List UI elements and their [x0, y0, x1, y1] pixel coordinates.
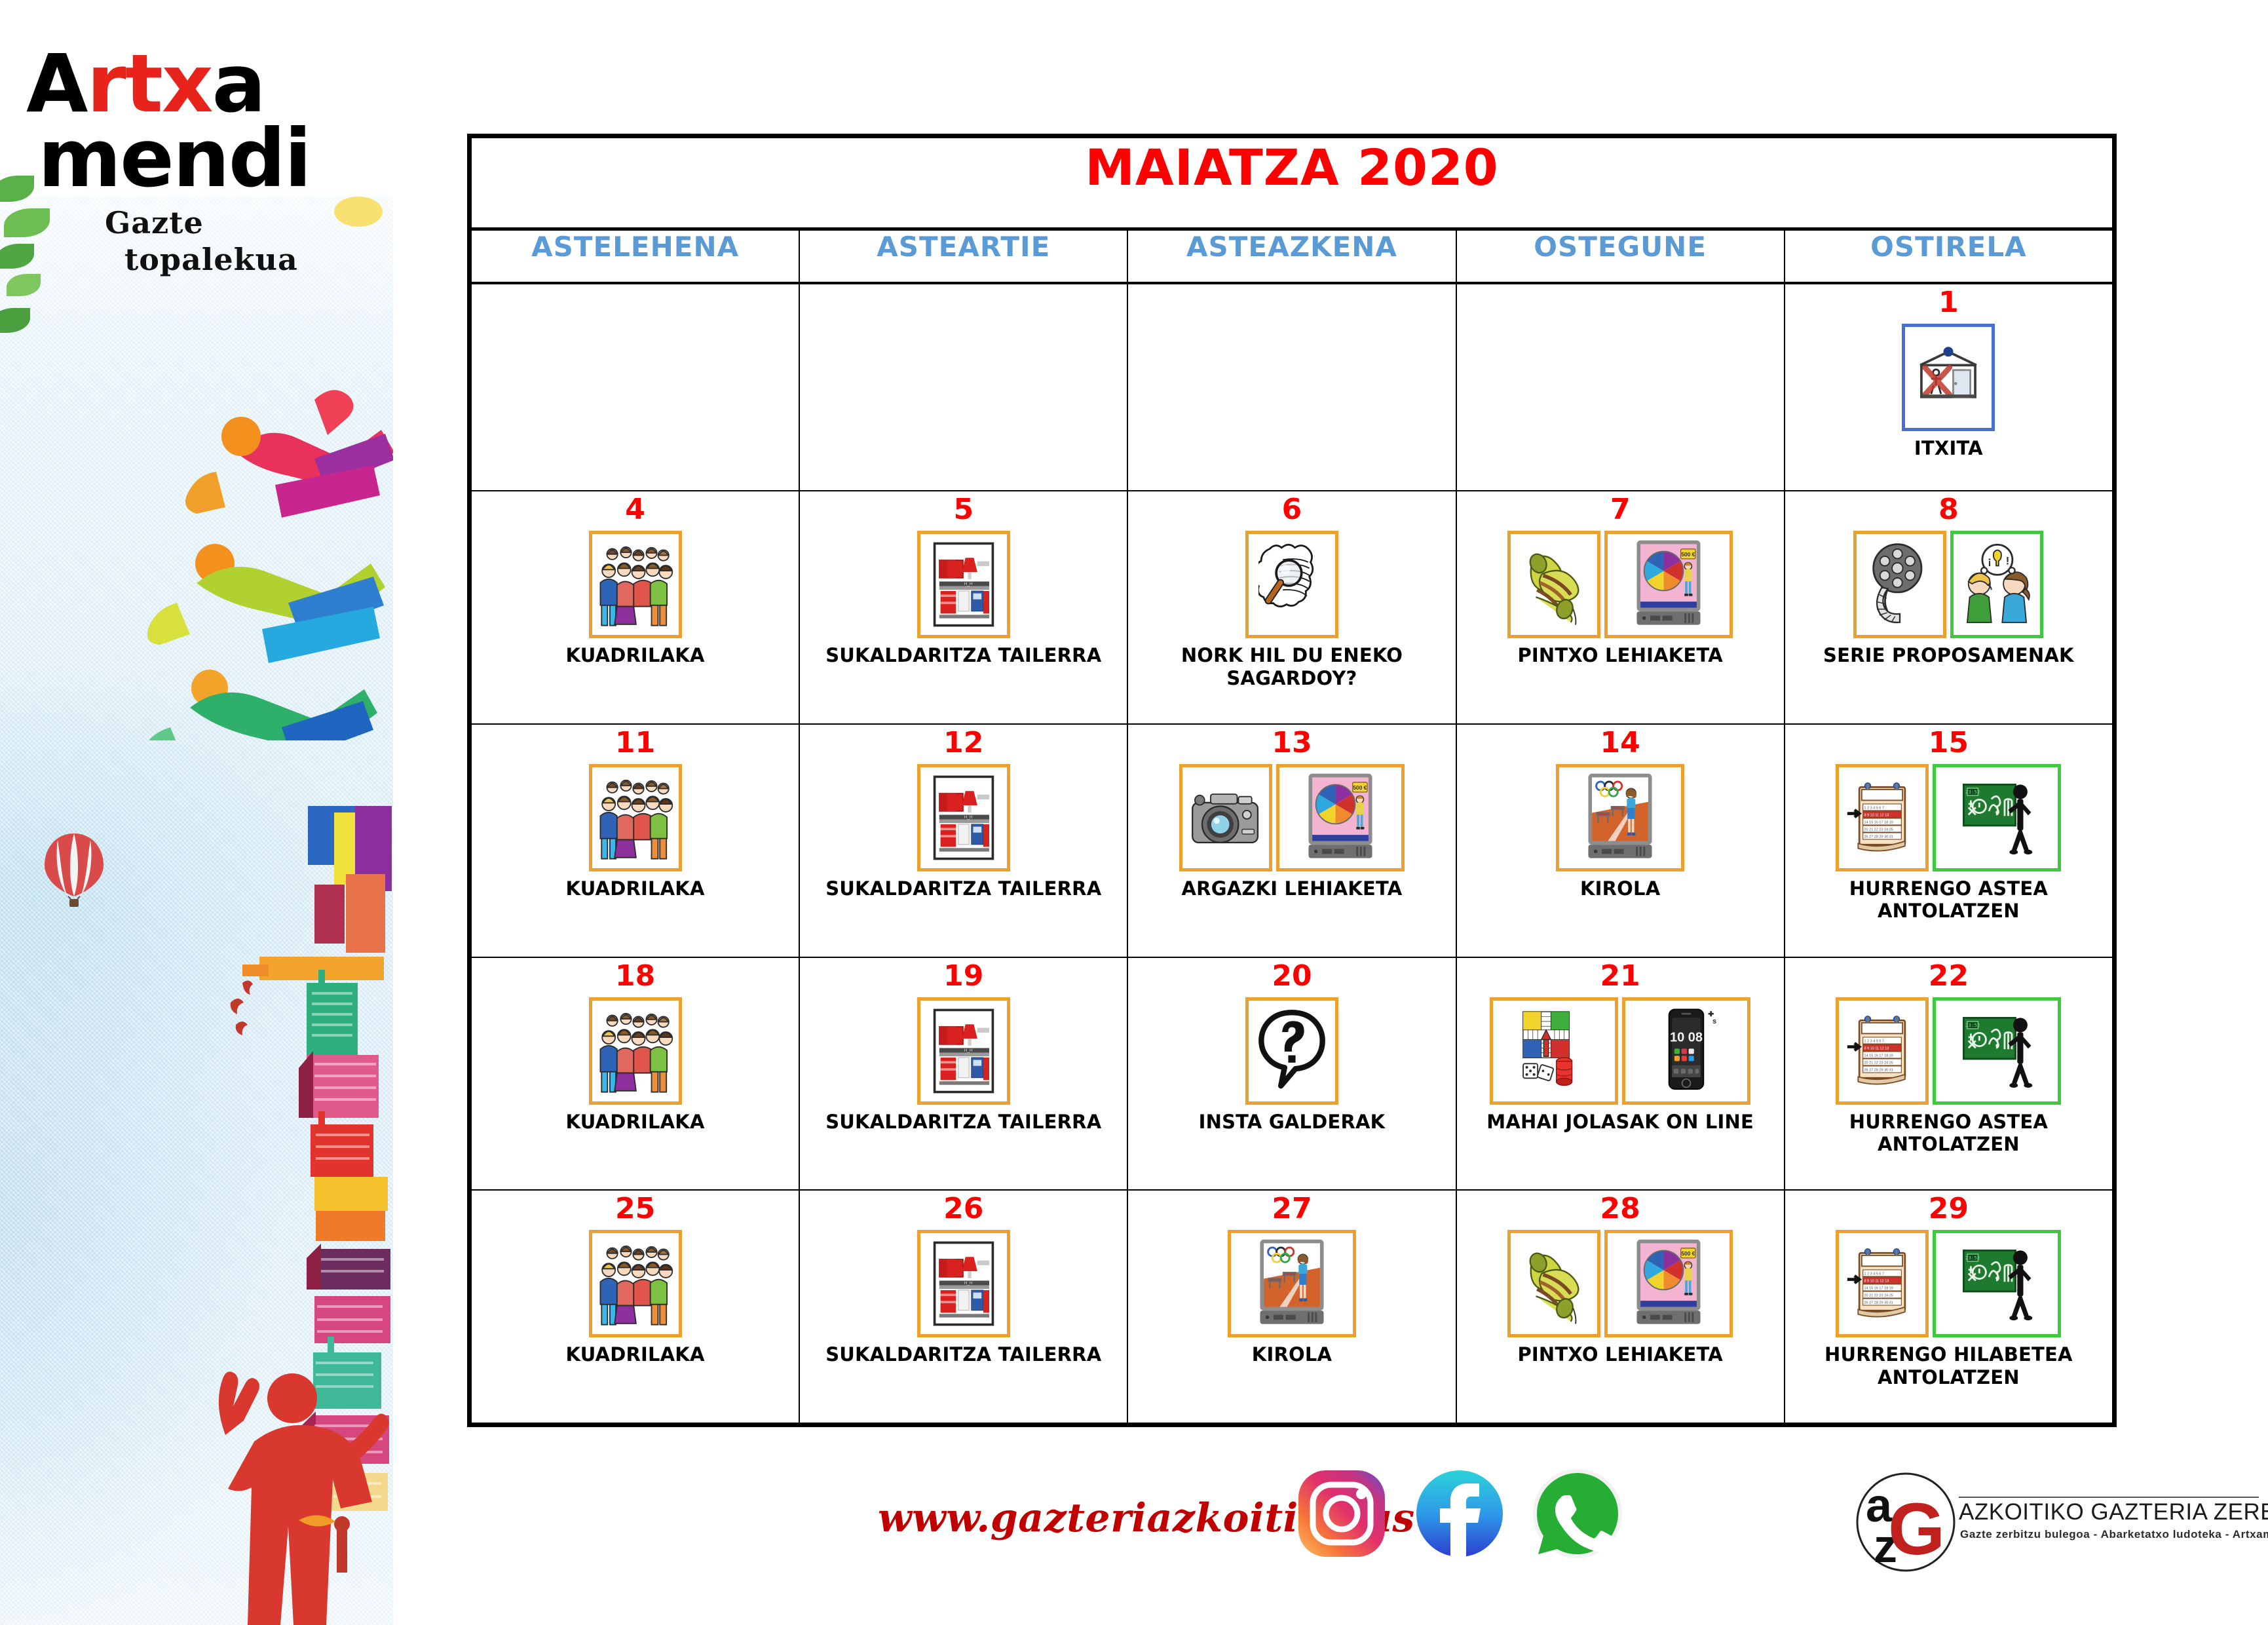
calendar-grid: MAIATZA 2020 ASTELEHENA ASTEARTIE ASTEAZ…: [470, 137, 2113, 1424]
pictogram-group: ¡ !: [1788, 531, 2109, 638]
day-number: 14: [1460, 729, 1781, 760]
svg-text:H_H: H_H: [964, 582, 973, 586]
calendar-day-cell-empty: [1127, 283, 1456, 491]
planning-board-icon: 23:52: [1933, 997, 2061, 1105]
pictogram-group: [474, 764, 796, 871]
calendar-week-row: 25 K: [471, 1190, 2113, 1423]
weekday-label: ASTEARTIE: [877, 231, 1050, 263]
day-number: 29: [1788, 1195, 2109, 1226]
weekday-header-row: ASTELEHENA ASTEARTIE ASTEAZKENA OSTEGUNE…: [471, 229, 2113, 282]
monthly-calendar-table: MAIATZA 2020 ASTELEHENA ASTEARTIE ASTEAZ…: [467, 134, 2117, 1427]
weekday-header-thursday: OSTEGUNE: [1456, 229, 1785, 282]
pictogram-group: 500 €: [1460, 531, 1781, 638]
question-bubble-icon: [1245, 997, 1338, 1105]
people-silhouettes: [118, 373, 393, 740]
azg-monogram-icon: a z G: [1854, 1470, 1957, 1574]
svg-text:26 27 28 29 30 31: 26 27 28 29 30 31: [1864, 1301, 1893, 1305]
kitchen-icon: H_H: [917, 764, 1010, 871]
board-game-icon: [1490, 997, 1618, 1105]
event-label: ARGAZKI LEHIAKETA: [1131, 877, 1452, 900]
calendar-day-cell-empty: [471, 283, 799, 491]
day-number: 27: [1131, 1195, 1452, 1226]
azkoitia-youth-service-logo: a z G AZKOITIKO GAZTERIA ZERBITZUA Gazte…: [1854, 1466, 2260, 1584]
day-number: 18: [474, 962, 796, 993]
calendar-day-cell-1[interactable]: 1 ITXITA: [1785, 283, 2113, 491]
planning-board-icon: 23:52: [1933, 1230, 2061, 1337]
event-label: INSTA GALDERAK: [1131, 1111, 1452, 1133]
day-number: 26: [803, 1195, 1124, 1226]
day-number: 6: [1131, 495, 1452, 527]
svg-text:8 9 10 11 12 13: 8 9 10 11 12 13: [1864, 1046, 1889, 1050]
svg-text:s: s: [1712, 1018, 1716, 1025]
calendar-day-cell-6[interactable]: 6 NORK HIL DU ENEKO SAGARDOY?: [1127, 491, 1456, 724]
day-number: 19: [803, 962, 1124, 993]
calendar-day-cell-27[interactable]: 27: [1127, 1190, 1456, 1423]
weekday-header-wednesday: ASTEAZKENA: [1127, 229, 1456, 282]
calendar-week-row: 11 K: [471, 724, 2113, 957]
calendar-day-cell-7[interactable]: 7: [1456, 491, 1785, 724]
tv-sports-icon: [1556, 764, 1684, 871]
logo-line-2: mendi: [38, 120, 373, 199]
pictogram-group: 500 €: [1460, 1230, 1781, 1337]
calendar-icon: 1 2 3 4 5 6 7 8 9 10 11 12 13 14 15 16 1…: [1836, 997, 1929, 1105]
svg-text:23:52: 23:52: [1965, 789, 1980, 795]
svg-text:H_H: H_H: [964, 815, 973, 820]
pictogram-group: H_H: [803, 764, 1124, 871]
day-number: 11: [474, 729, 796, 760]
whatsapp-icon[interactable]: [1532, 1468, 1623, 1559]
pictogram-group: [1460, 764, 1781, 871]
calendar-icon: 1 2 3 4 5 6 7 8 9 10 11 12 13 14 15 16 1…: [1836, 764, 1929, 871]
calendar-day-cell-5[interactable]: 5 H_H SUKALDARITZA TAILERR: [799, 491, 1127, 724]
event-label: HURRENGO HILABETEA ANTOLATZEN: [1788, 1343, 2109, 1388]
tv-sports-icon: [1228, 1230, 1356, 1337]
calendar-icon: 1 2 3 4 5 6 7 8 9 10 11 12 13 14 15 16 1…: [1836, 1230, 1929, 1337]
calendar-day-cell-4[interactable]: 4 KU: [471, 491, 799, 724]
pictogram-group: 1 2 3 4 5 6 7 8 9 10 11 12 13 14 15 16 1…: [1788, 1230, 2109, 1337]
kitchen-icon: H_H: [917, 997, 1010, 1105]
film-reel-icon: [1853, 531, 1946, 638]
pintxo-icon: [1507, 531, 1600, 638]
facebook-icon[interactable]: [1414, 1468, 1505, 1559]
footer: www.gazteriazkoitia.eus: [393, 1455, 2268, 1625]
org-tagline: Gazte zerbitzu bulegoa - Abarketatxo lud…: [1960, 1528, 2268, 1541]
calendar-day-cell-14[interactable]: 14: [1456, 724, 1785, 957]
svg-text:23:52: 23:52: [1965, 1022, 1980, 1028]
camera-icon: [1179, 764, 1272, 871]
decorative-sidebar: Artxa mendi Gazte topalekua: [0, 0, 393, 1625]
weekday-label: ASTEAZKENA: [1186, 231, 1397, 263]
event-label: KUADRILAKA: [474, 877, 796, 900]
event-label: PINTXO LEHIAKETA: [1460, 644, 1781, 666]
logo-line-1: Artxa: [26, 46, 373, 123]
calendar-day-cell-empty: [1456, 283, 1785, 491]
calendar-day-cell-21[interactable]: 21: [1456, 957, 1785, 1191]
day-number: 12: [803, 729, 1124, 760]
day-number: 1: [1788, 288, 2109, 320]
pictogram-group: 1 2 3 4 5 6 7 8 9 10 11 12 13 14 15 16 1…: [1788, 764, 2109, 871]
org-name: AZKOITIKO GAZTERIA ZERBITZUA: [1959, 1499, 2268, 1525]
calendar-day-cell-25[interactable]: 25 K: [471, 1190, 799, 1423]
day-number: 13: [1131, 729, 1452, 760]
svg-text:26 27 28 29 30 31: 26 27 28 29 30 31: [1864, 1068, 1893, 1072]
event-label: NORK HIL DU ENEKO SAGARDOY?: [1131, 644, 1452, 689]
artxamendi-logo: Artxa mendi Gazte topalekua: [26, 46, 373, 277]
pictogram-group: 1 2 3 4 5 6 7 8 9 10 11 12 13 14 15 16 1…: [1788, 997, 2109, 1105]
svg-text:20 21 22 23 24 25: 20 21 22 23 24 25: [1864, 1061, 1893, 1065]
event-label: SUKALDARITZA TAILERRA: [803, 1343, 1124, 1366]
kitchen-icon: H_H: [917, 531, 1010, 638]
closed-building-icon: [1902, 324, 1995, 431]
svg-text:10 08: 10 08: [1670, 1030, 1703, 1044]
calendar-week-row: 4 KU: [471, 491, 2113, 724]
day-number: 20: [1131, 962, 1452, 993]
svg-text:500 €: 500 €: [1353, 784, 1367, 791]
weekday-header-friday: OSTIRELA: [1785, 229, 2113, 282]
pictogram-group: [474, 531, 796, 638]
weekday-header-tuesday: ASTEARTIE: [799, 229, 1127, 282]
event-label: KUADRILAKA: [474, 1111, 796, 1133]
event-label: KUADRILAKA: [474, 1343, 796, 1366]
page-title: MAIATZA 2020: [1085, 138, 1498, 197]
azg-divider-rule: [1959, 1497, 2259, 1498]
weekday-label: OSTIRELA: [1870, 231, 2027, 263]
day-number: 7: [1460, 495, 1781, 527]
pictogram-group: [474, 1230, 796, 1337]
calendar-week-row: 1 ITXITA: [471, 283, 2113, 491]
calendar-day-cell-26[interactable]: 26 H_H SUKALDARITZA TAILER: [799, 1190, 1127, 1423]
svg-text:23:52: 23:52: [1965, 1255, 1980, 1261]
group-of-people-icon: [589, 1230, 682, 1337]
group-of-people-icon: [589, 764, 682, 871]
pictogram-group: [1131, 531, 1452, 638]
svg-text:500 €: 500 €: [1682, 1250, 1695, 1257]
svg-text:20 21 22 23 24 25: 20 21 22 23 24 25: [1864, 1294, 1893, 1298]
calendar-week-row: 18 K: [471, 957, 2113, 1191]
calendar-day-cell-15[interactable]: 15 1 2 3 4 5 6 7 8 9 10 11 12 13 14: [1785, 724, 2113, 957]
svg-text:14 15 16 17 18 19: 14 15 16 17 18 19: [1864, 1054, 1893, 1058]
smartphone-icon: 10 08 s: [1622, 997, 1750, 1105]
day-number: 21: [1460, 962, 1781, 993]
event-label: KIROLA: [1460, 877, 1781, 900]
hot-air-balloon-icon: [38, 831, 110, 923]
day-number: 8: [1788, 495, 2109, 527]
svg-text:500 €: 500 €: [1682, 551, 1695, 558]
event-label: SUKALDARITZA TAILERRA: [803, 1111, 1124, 1133]
svg-text:14 15 16 17 18 19: 14 15 16 17 18 19: [1864, 820, 1893, 824]
tv-gameshow-icon: 500 €: [1604, 531, 1733, 638]
event-label: KIROLA: [1131, 1343, 1452, 1366]
pictogram-group: [474, 997, 796, 1105]
planning-board-icon: 23:52: [1933, 764, 2061, 871]
svg-text:8 9 10 11 12 13: 8 9 10 11 12 13: [1864, 1280, 1889, 1284]
calendar-day-cell-28[interactable]: 28: [1456, 1190, 1785, 1423]
tv-gameshow-icon: 500 €: [1604, 1230, 1733, 1337]
group-of-people-icon: [589, 997, 682, 1105]
calendar-day-cell-8[interactable]: 8: [1785, 491, 2113, 724]
svg-text:8 9 10 11 12 13: 8 9 10 11 12 13: [1864, 813, 1889, 817]
svg-text:¡: ¡: [1988, 555, 1992, 567]
calendar-day-cell-20[interactable]: 20 INSTA GALDERAK: [1127, 957, 1456, 1191]
calendar-poster: Artxa mendi Gazte topalekua: [0, 0, 2268, 1625]
calendar-day-cell-18[interactable]: 18 K: [471, 957, 799, 1191]
day-number: 25: [474, 1195, 796, 1226]
event-label: SUKALDARITZA TAILERRA: [803, 877, 1124, 900]
pictogram-group: [1788, 324, 2109, 431]
svg-text:14 15 16 17 18 19: 14 15 16 17 18 19: [1864, 1287, 1893, 1291]
svg-text:H_H: H_H: [964, 1281, 973, 1286]
pictogram-group: H_H: [803, 997, 1124, 1105]
celebrating-figure-silhouette: [170, 1356, 393, 1625]
logo-subtitle-1: Gazte: [105, 205, 373, 240]
logo-subtitle-2: topalekua: [124, 242, 373, 277]
svg-text:!: !: [2006, 555, 2010, 567]
day-number: 4: [474, 495, 796, 527]
group-of-people-icon: [589, 531, 682, 638]
day-number: 5: [803, 495, 1124, 527]
instagram-icon[interactable]: [1296, 1468, 1388, 1559]
event-label: PINTXO LEHIAKETA: [1460, 1343, 1781, 1366]
pintxo-icon: [1507, 1230, 1600, 1337]
event-label: SUKALDARITZA TAILERRA: [803, 644, 1124, 666]
calendar-day-cell-empty: [799, 283, 1127, 491]
calendar-day-cell-12[interactable]: 12 H_H SUKALDARITZA TAILER: [799, 724, 1127, 957]
day-number: 22: [1788, 962, 2109, 993]
magnifying-glass-icon: [1245, 531, 1338, 638]
event-label: HURRENGO ASTEA ANTOLATZEN: [1788, 1111, 2109, 1155]
svg-text:1 2 3 4 5 6 7: 1 2 3 4 5 6 7: [1864, 1272, 1885, 1276]
pictogram-group: H_H: [803, 1230, 1124, 1337]
month-title-cell: MAIATZA 2020: [471, 138, 2113, 229]
calendar-day-cell-13[interactable]: 13: [1127, 724, 1456, 957]
weekday-label: OSTEGUNE: [1534, 231, 1707, 263]
title-row: MAIATZA 2020: [471, 138, 2113, 229]
event-label: MAHAI JOLASAK ON LINE: [1460, 1111, 1781, 1133]
kitchen-icon: H_H: [917, 1230, 1010, 1337]
pictogram-group: H_H: [803, 531, 1124, 638]
calendar-weeks: 1 ITXITA4: [471, 283, 2113, 1423]
event-label: HURRENGO ASTEA ANTOLATZEN: [1788, 877, 2109, 922]
pictogram-group: [1131, 997, 1452, 1105]
calendar-day-cell-29[interactable]: 29 1 2 3 4 5 6 7 8 9 10 11 12 13 14: [1785, 1190, 2113, 1423]
weekday-header-monday: ASTELEHENA: [471, 229, 799, 282]
tv-gameshow-icon: 500 €: [1276, 764, 1405, 871]
pictogram-group: [1131, 1230, 1452, 1337]
calendar-day-cell-22[interactable]: 22 1 2 3 4 5 6 7 8 9 10 11 12 13 14: [1785, 957, 2113, 1191]
day-number: 28: [1460, 1195, 1781, 1226]
pictogram-group: 500 €: [1131, 764, 1452, 871]
svg-text:26 27 28 29 30 31: 26 27 28 29 30 31: [1864, 835, 1893, 839]
event-label: SERIE PROPOSAMENAK: [1788, 644, 2109, 666]
svg-text:1 2 3 4 5 6 7: 1 2 3 4 5 6 7: [1864, 806, 1885, 810]
svg-text:G: G: [1888, 1488, 1945, 1570]
calendar-day-cell-19[interactable]: 19 H_H SUKALDARITZA TAILER: [799, 957, 1127, 1191]
two-people-talking-icon: ¡ !: [1950, 531, 2043, 638]
event-label: KUADRILAKA: [474, 644, 796, 666]
day-number: 15: [1788, 729, 2109, 760]
svg-text:20 21 22 23 24 25: 20 21 22 23 24 25: [1864, 828, 1893, 832]
pictogram-group: 10 08 s: [1460, 997, 1781, 1105]
event-label: ITXITA: [1788, 437, 2109, 459]
calendar-day-cell-11[interactable]: 11 K: [471, 724, 799, 957]
weekday-label: ASTELEHENA: [531, 231, 739, 263]
svg-text:H_H: H_H: [964, 1048, 973, 1053]
svg-text:1 2 3 4 5 6 7: 1 2 3 4 5 6 7: [1864, 1039, 1885, 1043]
